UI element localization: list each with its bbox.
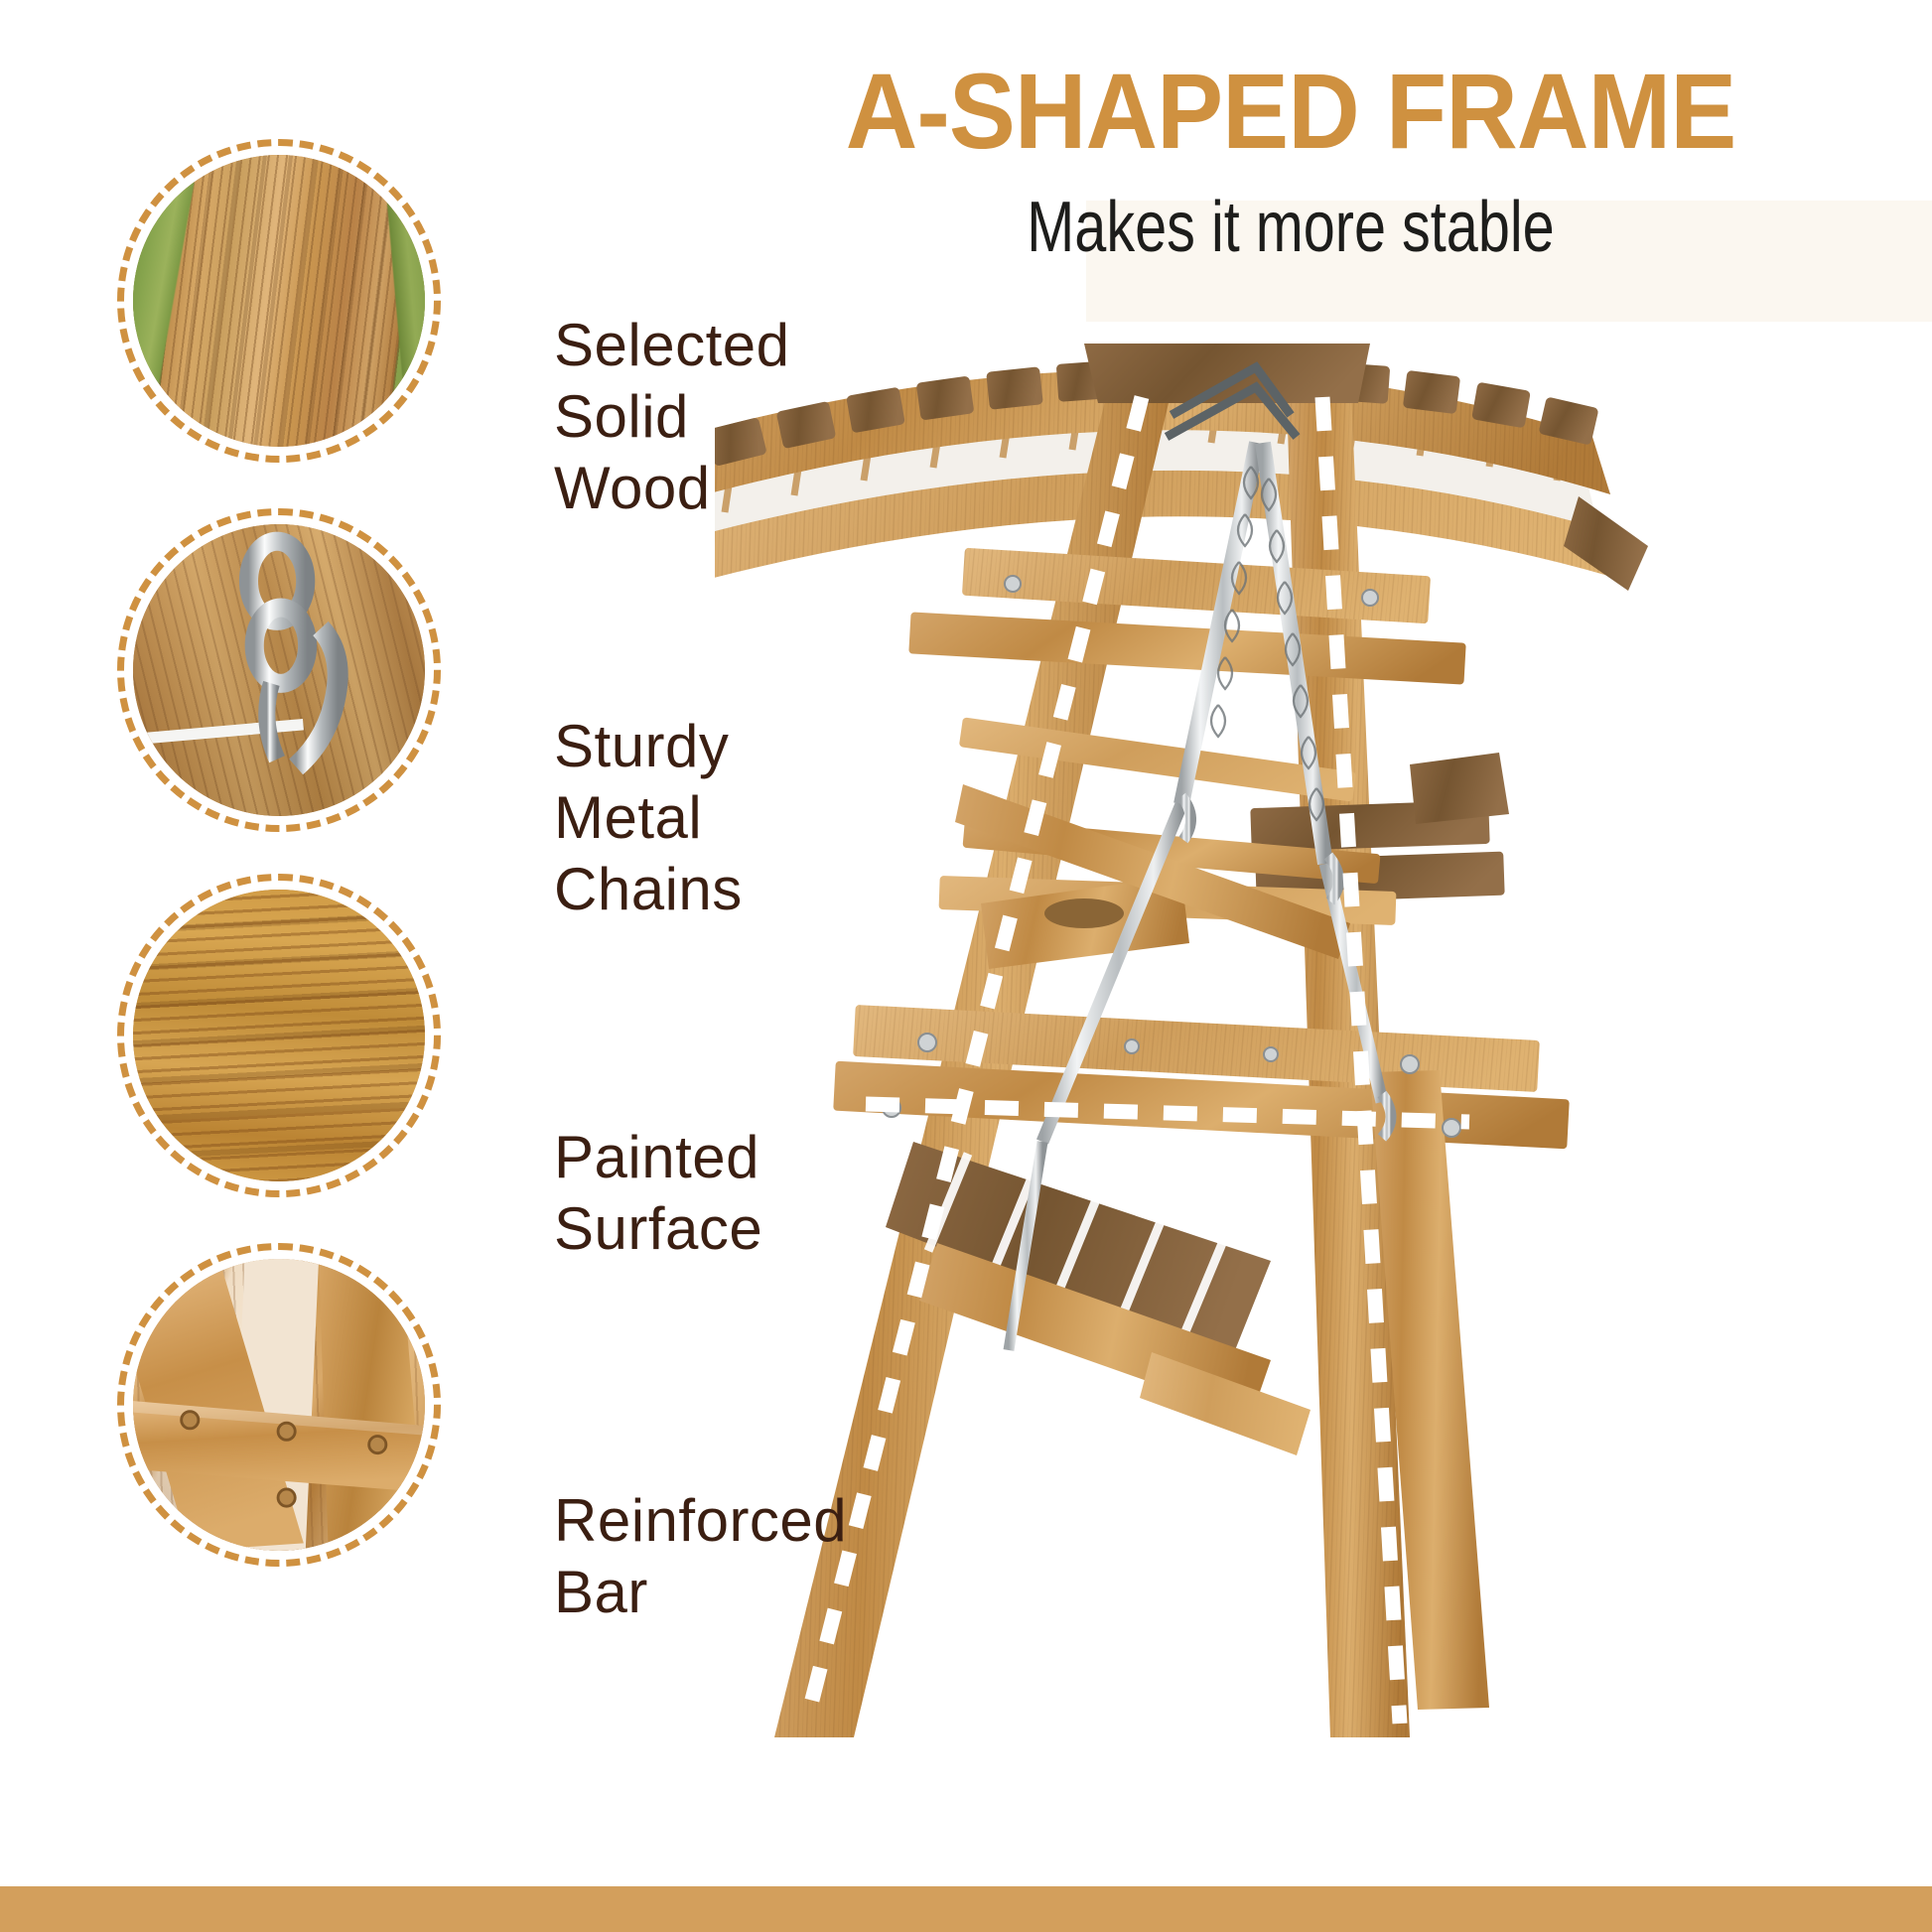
solid-wood-closeup-icon [133, 155, 425, 447]
cup-holder-hole [1044, 898, 1124, 928]
a-frame-apex-block [1084, 344, 1370, 403]
reinforced-bar-closeup-icon [133, 1259, 425, 1551]
feature-label-1: Selected Solid Wood [554, 310, 790, 524]
product-image [715, 248, 1932, 1857]
feature-circle-2 [117, 508, 441, 832]
metal-chain-closeup-icon [133, 524, 425, 816]
painted-surface-closeup-icon [133, 890, 425, 1181]
bottom-accent-bar [0, 1886, 1932, 1932]
page-title: A-SHAPED FRAME [737, 55, 1845, 167]
upper-cross-brace-2 [908, 612, 1465, 684]
feature-circle-4 [117, 1243, 441, 1567]
feature-label-3: Painted Surface [554, 1122, 762, 1265]
feature-label-2: Sturdy Metal Chains [554, 711, 743, 925]
infographic-canvas: A-SHAPED FRAME Makes it more stable [0, 0, 1932, 1932]
lower-slat-deck [886, 1142, 1311, 1455]
feature-circle-3 [117, 874, 441, 1197]
product-illustration [715, 248, 1932, 1857]
feature-label-4: Reinforced Bar [554, 1485, 847, 1628]
feature-circle-1 [117, 139, 441, 463]
